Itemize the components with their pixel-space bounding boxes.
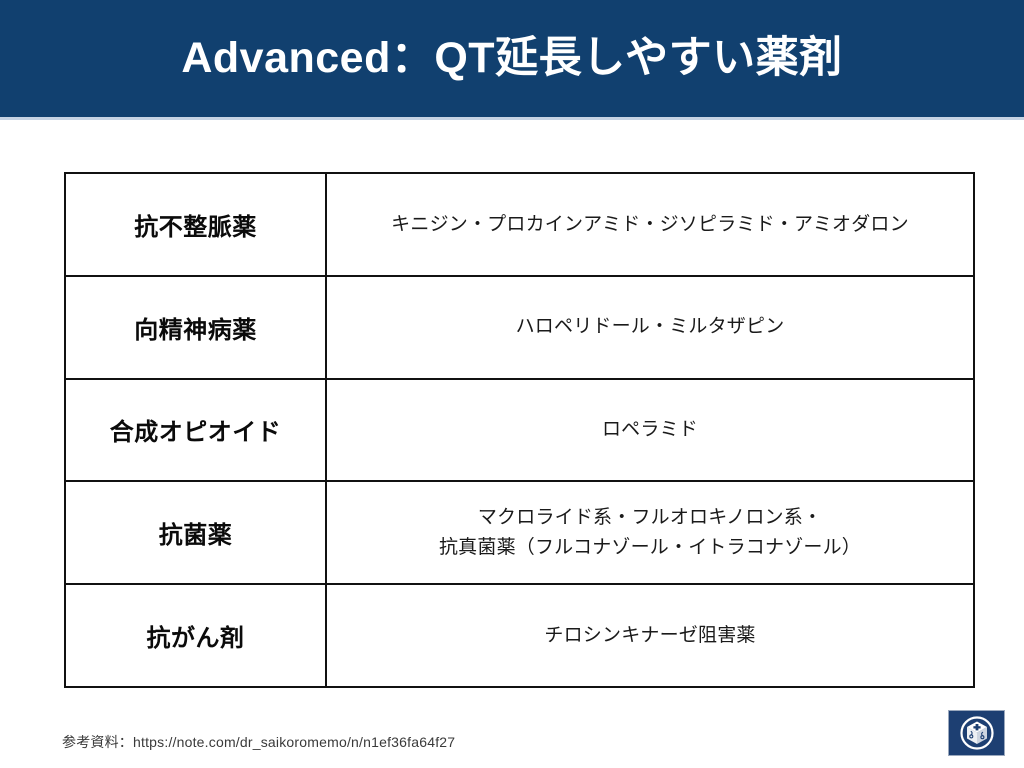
header-underline-divider bbox=[0, 117, 1024, 120]
table-body: 抗不整脈薬 キニジン・プロカインアミド・ジソピラミド・アミオダロン 向精神病薬 … bbox=[65, 173, 974, 687]
table-row: 抗菌薬 マクロライド系・フルオロキノロン系・ 抗真菌薬（フルコナゾール・イトラコ… bbox=[65, 481, 974, 584]
drug-list-line: キニジン・プロカインアミド・ジソピラミド・アミオダロン bbox=[337, 210, 963, 239]
drug-category-label: 向精神病薬 bbox=[65, 276, 326, 379]
drug-category-table: 抗不整脈薬 キニジン・プロカインアミド・ジソピラミド・アミオダロン 向精神病薬 … bbox=[64, 172, 975, 688]
drug-list-cell: キニジン・プロカインアミド・ジソピラミド・アミオダロン bbox=[326, 173, 974, 276]
drug-list-cell: マクロライド系・フルオロキノロン系・ 抗真菌薬（フルコナゾール・イトラコナゾール… bbox=[326, 481, 974, 584]
page-title: Advanced：QT延長しやすい薬剤 bbox=[181, 35, 842, 82]
drug-list-line: ハロペリドール・ミルタザピン bbox=[337, 312, 963, 341]
reference-source-text: 参考資料：https://note.com/dr_saikoromemo/n/n… bbox=[62, 732, 455, 752]
drug-category-label: 抗がん剤 bbox=[65, 584, 326, 687]
drug-list-cell: ハロペリドール・ミルタザピン bbox=[326, 276, 974, 379]
drug-category-label: 抗菌薬 bbox=[65, 481, 326, 584]
dice-cube-medical-logo-icon bbox=[960, 716, 994, 750]
drug-category-label: 抗不整脈薬 bbox=[65, 173, 326, 276]
drug-list-line: ロペラミド bbox=[337, 415, 963, 444]
table-row: 抗不整脈薬 キニジン・プロカインアミド・ジソピラミド・アミオダロン bbox=[65, 173, 974, 276]
drug-list-cell: ロペラミド bbox=[326, 379, 974, 482]
table-row: 向精神病薬 ハロペリドール・ミルタザピン bbox=[65, 276, 974, 379]
drug-list-line: マクロライド系・フルオロキノロン系・ bbox=[337, 503, 963, 532]
table-row: 抗がん剤 チロシンキナーゼ阻害薬 bbox=[65, 584, 974, 687]
drug-category-label: 合成オピオイド bbox=[65, 379, 326, 482]
brand-logo-badge bbox=[948, 710, 1005, 756]
drug-list-cell: チロシンキナーゼ阻害薬 bbox=[326, 584, 974, 687]
drug-list-line: チロシンキナーゼ阻害薬 bbox=[337, 621, 963, 650]
drug-list-line: 抗真菌薬（フルコナゾール・イトラコナゾール） bbox=[337, 533, 963, 562]
slide-header-band: Advanced：QT延長しやすい薬剤 bbox=[0, 0, 1024, 117]
table-row: 合成オピオイド ロペラミド bbox=[65, 379, 974, 482]
